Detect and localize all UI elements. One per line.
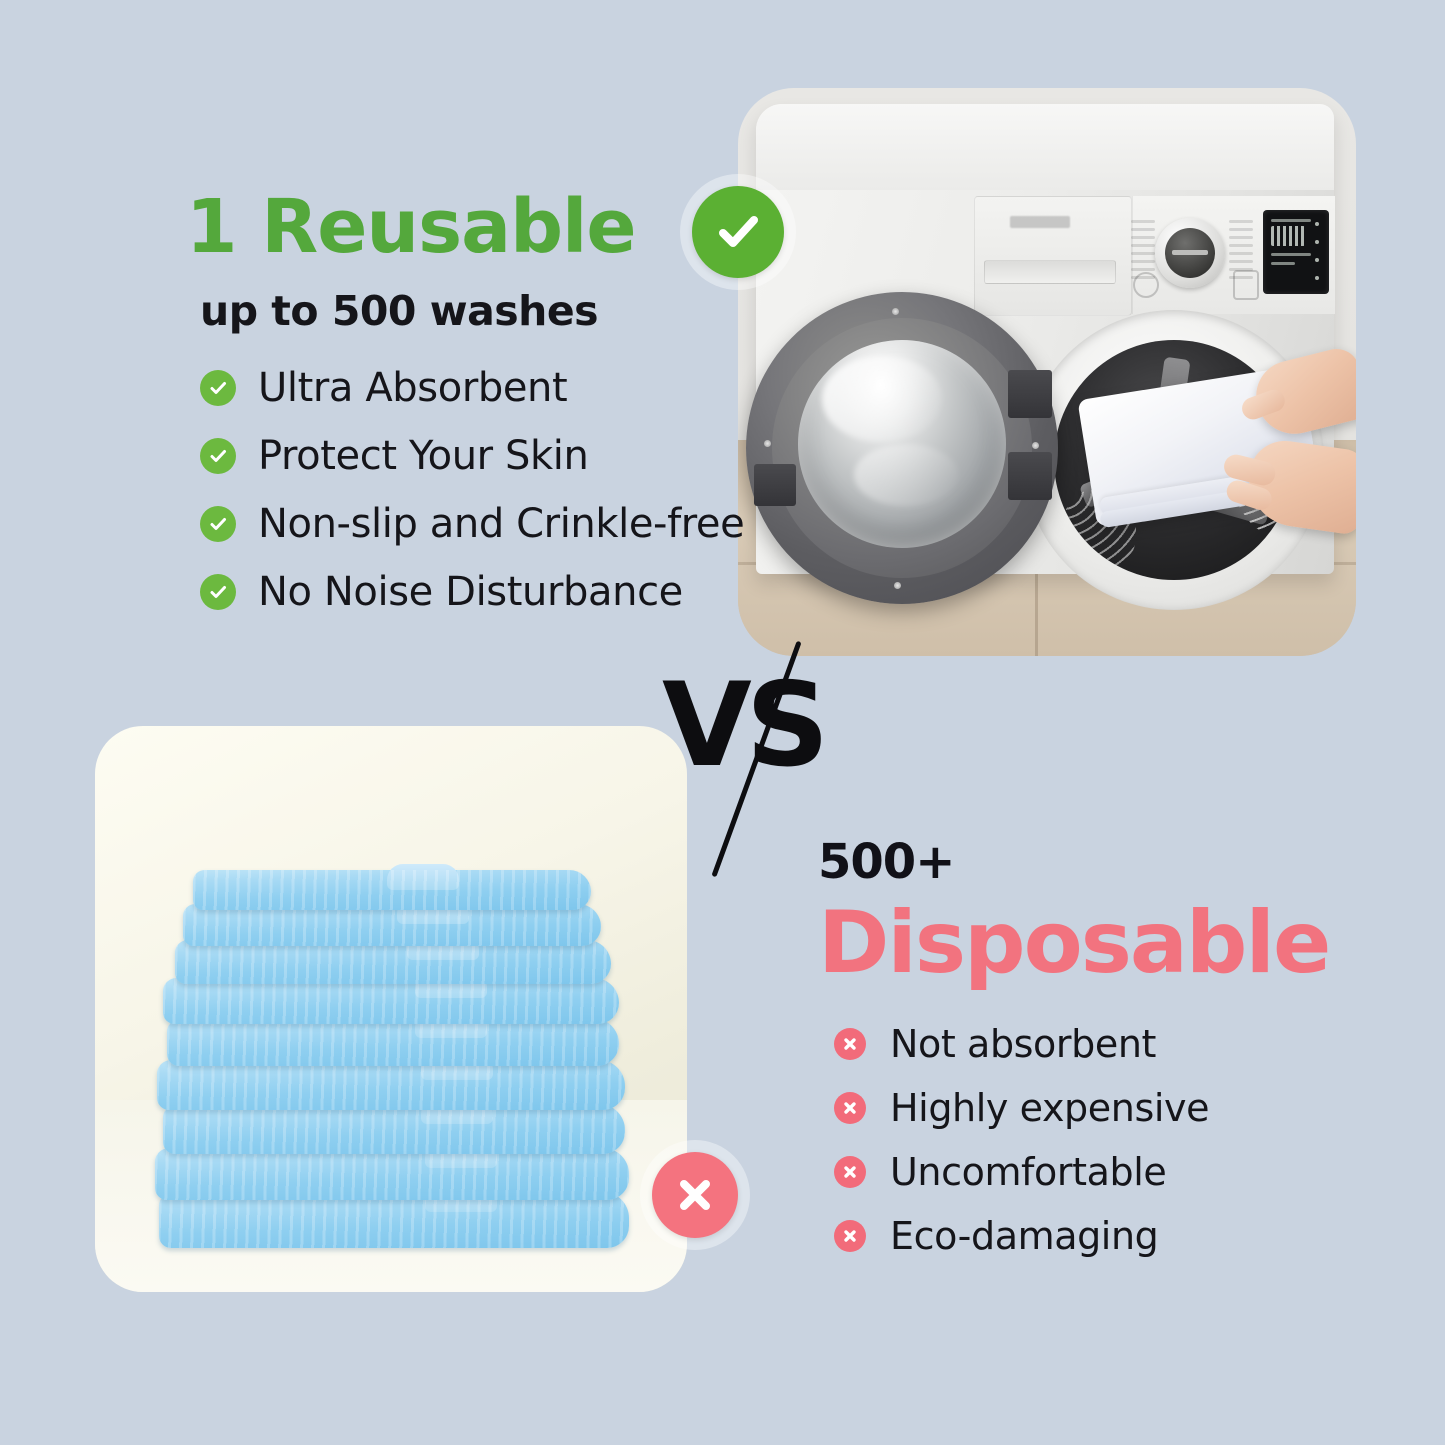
door-screw	[1032, 442, 1039, 449]
pad-layer	[157, 1060, 625, 1110]
versus-label: VS	[662, 668, 852, 784]
door-screw	[764, 440, 771, 447]
machine-door	[746, 292, 1058, 604]
infographic-canvas: VS 1 Reusable up to 500 washes Ultra Abs…	[0, 0, 1445, 1445]
list-item: Highly expensive	[834, 1086, 1378, 1130]
washing-machine	[756, 104, 1356, 624]
pad-layer	[175, 940, 611, 984]
disposable-heading: Disposable	[818, 900, 1378, 988]
glass-reflection	[854, 444, 958, 506]
feature-label: Eco-damaging	[890, 1214, 1158, 1258]
check-circle-icon	[200, 370, 236, 406]
pad-layer	[159, 1192, 629, 1248]
door-screw	[894, 582, 901, 589]
feature-label: No Noise Disturbance	[258, 569, 683, 615]
feature-label: Uncomfortable	[890, 1150, 1166, 1194]
x-circle-icon	[834, 1028, 866, 1060]
dial-indicator	[1172, 250, 1208, 255]
disposable-pads-photo	[95, 726, 687, 1292]
disposable-feature-list: Not absorbent Highly expensive Uncomfort…	[818, 1022, 1378, 1258]
feature-label: Ultra Absorbent	[258, 365, 567, 411]
lcd-row	[1271, 262, 1295, 265]
feature-label: Non-slip and Crinkle-free	[258, 501, 744, 547]
dial-inner	[1165, 228, 1215, 278]
door-hinge	[1008, 452, 1052, 500]
lcd-segment	[1271, 226, 1305, 246]
lcd-row	[1271, 219, 1311, 222]
glass-reflection	[822, 356, 942, 442]
door-hinge	[1008, 370, 1052, 418]
list-item: Not absorbent	[834, 1022, 1378, 1066]
lcd-row	[1271, 253, 1311, 256]
power-button-icon	[1133, 272, 1159, 298]
check-circle-icon	[200, 506, 236, 542]
lcd-display	[1263, 210, 1329, 294]
control-panel	[1132, 196, 1335, 314]
door-glass	[798, 340, 1006, 548]
x-circle-icon	[834, 1092, 866, 1124]
disposable-count: 500+	[818, 838, 1378, 886]
machine-top	[756, 104, 1334, 190]
brand-logo	[1010, 216, 1070, 228]
feature-label: Protect Your Skin	[258, 433, 588, 479]
pad-layer	[193, 870, 591, 910]
x-circle-icon	[834, 1156, 866, 1188]
reusable-heading: 1 Reusable	[186, 190, 706, 265]
lcd-dot	[1315, 240, 1319, 244]
program-dial	[1155, 218, 1225, 288]
x-circle-icon	[834, 1220, 866, 1252]
list-item: Ultra Absorbent	[200, 365, 706, 411]
check-circle-icon	[200, 574, 236, 610]
washing-machine-photo	[738, 88, 1356, 656]
door-screw	[892, 308, 899, 315]
door-latch	[754, 464, 796, 506]
reusable-copy-block: 1 Reusable up to 500 washes Ultra Absorb…	[186, 190, 706, 637]
reusable-subheading: up to 500 washes	[200, 287, 706, 335]
pad-stack	[153, 818, 631, 1248]
drawer-handle	[984, 260, 1116, 284]
list-item: Eco-damaging	[834, 1214, 1378, 1258]
pad-layer	[163, 1104, 625, 1154]
option-button-icon	[1233, 270, 1259, 300]
pad-layer	[183, 904, 601, 946]
pad-notch	[387, 864, 459, 890]
disposable-copy-block: 500+ Disposable Not absorbent Highly exp…	[818, 838, 1378, 1278]
pad-layer	[163, 978, 619, 1024]
pad-layer	[155, 1148, 629, 1200]
list-item: Non-slip and Crinkle-free	[200, 501, 706, 547]
pad-layer	[167, 1018, 619, 1066]
list-item: Protect Your Skin	[200, 433, 706, 479]
x-badge-icon	[652, 1152, 738, 1238]
list-item: Uncomfortable	[834, 1150, 1378, 1194]
check-circle-icon	[200, 438, 236, 474]
list-item: No Noise Disturbance	[200, 569, 706, 615]
lcd-dot	[1315, 222, 1319, 226]
lcd-dot	[1315, 276, 1319, 280]
lcd-dot	[1315, 258, 1319, 262]
feature-label: Not absorbent	[890, 1022, 1156, 1066]
feature-label: Highly expensive	[890, 1086, 1209, 1130]
reusable-feature-list: Ultra Absorbent Protect Your Skin Non-sl…	[186, 365, 706, 615]
